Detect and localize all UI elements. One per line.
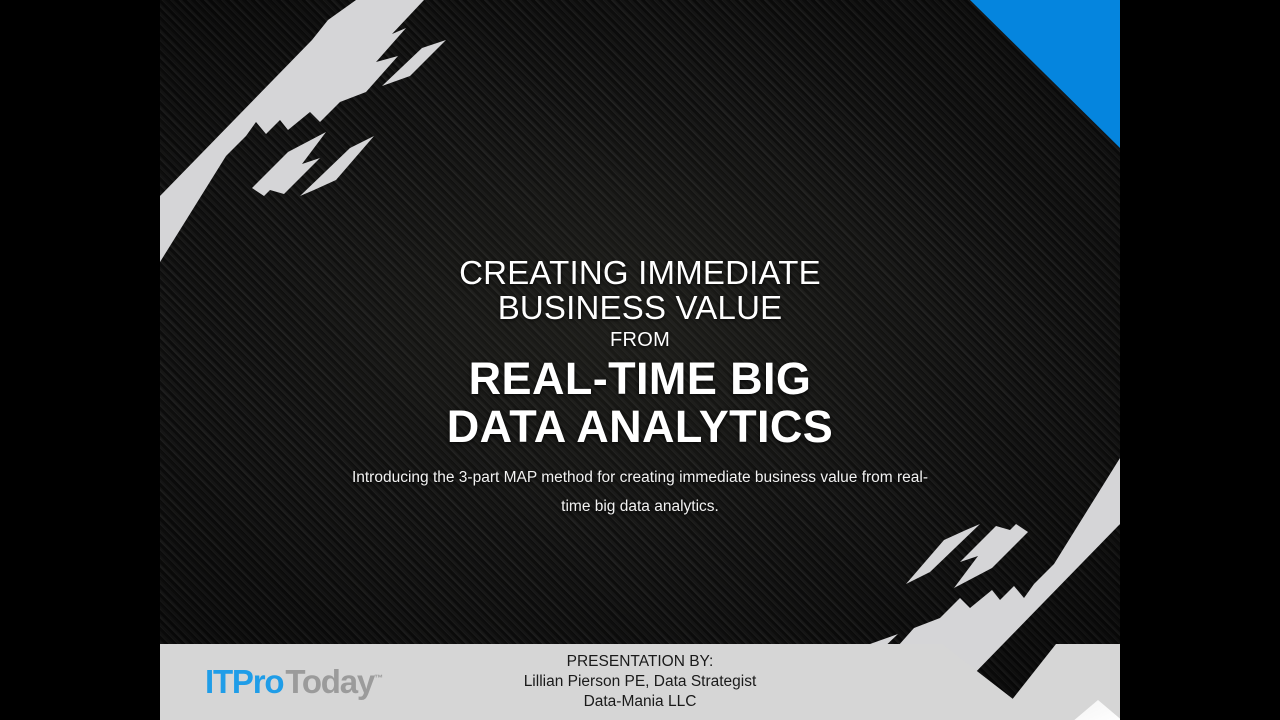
presentation-slide: CREATING IMMEDIATE BUSINESS VALUE FROM R… — [160, 0, 1120, 720]
logo-trademark-symbol: ™ — [374, 673, 383, 683]
slide-subtitle: Introducing the 3-part MAP method for cr… — [340, 463, 940, 521]
accent-triangle-top-right — [970, 0, 1120, 148]
presenter-credits: PRESENTATION BY: Lillian Pierson PE, Dat… — [440, 652, 840, 712]
title-line-5: DATA ANALYTICS — [160, 403, 1120, 451]
title-line-1: CREATING IMMEDIATE — [160, 255, 1120, 290]
slide-title: CREATING IMMEDIATE BUSINESS VALUE FROM R… — [160, 255, 1120, 451]
credits-presenter-name: Lillian Pierson PE, Data Strategist — [440, 672, 840, 692]
title-line-2: BUSINESS VALUE — [160, 290, 1120, 325]
title-line-4: REAL-TIME BIG — [160, 355, 1120, 403]
slide-footer: ITProToday™ PRESENTATION BY: Lillian Pie… — [160, 644, 1120, 720]
logo-primary-text: ITPro — [205, 663, 283, 700]
itprotoday-logo: ITProToday™ — [205, 660, 383, 700]
screen: CREATING IMMEDIATE BUSINESS VALUE FROM R… — [0, 0, 1280, 720]
letterbox-bar-left — [0, 0, 160, 720]
letterbox-bar-right — [1120, 0, 1280, 720]
brush-stroke-top-left — [160, 0, 446, 262]
credits-heading: PRESENTATION BY: — [440, 652, 840, 672]
title-connector: FROM — [160, 325, 1120, 355]
logo-secondary-text: Today — [285, 663, 374, 700]
credits-organization: Data-Mania LLC — [440, 692, 840, 712]
